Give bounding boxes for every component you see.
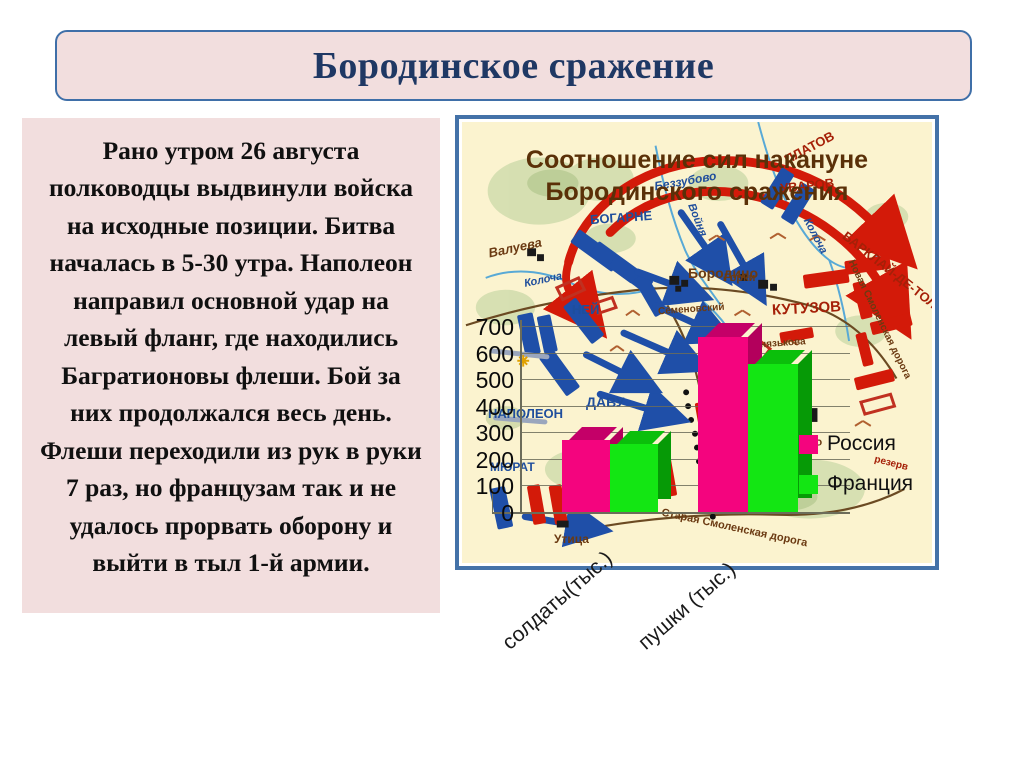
x-axis-label-guns: пушки (тыс.) [634, 558, 741, 655]
y-tick-700: 700 [462, 314, 514, 341]
bar-front-face [748, 364, 798, 512]
y-tick-500: 500 [462, 367, 514, 394]
y-tick-200: 200 [462, 447, 514, 474]
bar-front-face [562, 440, 610, 512]
map-canvas: Валуева БОГАРНЕ Беззубово ПЛАТОВ УВАРОВ … [462, 122, 932, 563]
gridline-700 [520, 326, 850, 327]
bar-guns-france [748, 364, 798, 512]
legend-item-france: Франция [799, 472, 913, 496]
bar-front-face [610, 444, 658, 512]
legend-label-france: Франция [827, 472, 913, 496]
legend-label-russia: Россия [827, 432, 896, 456]
bar-soldiers-france [610, 444, 658, 512]
x-axis [492, 512, 850, 514]
battle-map-panel: Валуева БОГАРНЕ Беззубово ПЛАТОВ УВАРОВ … [455, 115, 939, 570]
description-text: Рано утром 26 августа полководцы выдвину… [22, 118, 440, 582]
legend-swatch-france [799, 475, 818, 494]
y-tick-600: 600 [462, 341, 514, 368]
page-title: Бородинское сражение [313, 44, 714, 88]
forces-bar-chart: 700 600 500 400 300 200 100 0 [462, 122, 932, 563]
y-axis [520, 320, 522, 512]
y-tick-100: 100 [462, 473, 514, 500]
y-tick-400: 400 [462, 394, 514, 421]
y-tick-0: 0 [462, 500, 514, 527]
bar-soldiers-russia [562, 440, 610, 512]
bar-guns-russia [698, 337, 748, 512]
bar-side-face [658, 431, 671, 499]
y-tick-300: 300 [462, 420, 514, 447]
legend-swatch-russia [799, 435, 818, 454]
slide-title-banner: Бородинское сражение [55, 30, 972, 101]
legend-item-russia: Россия [799, 432, 896, 456]
description-panel: Рано утром 26 августа полководцы выдвину… [22, 118, 440, 613]
bar-top-face [569, 427, 617, 440]
bar-front-face [698, 337, 748, 512]
